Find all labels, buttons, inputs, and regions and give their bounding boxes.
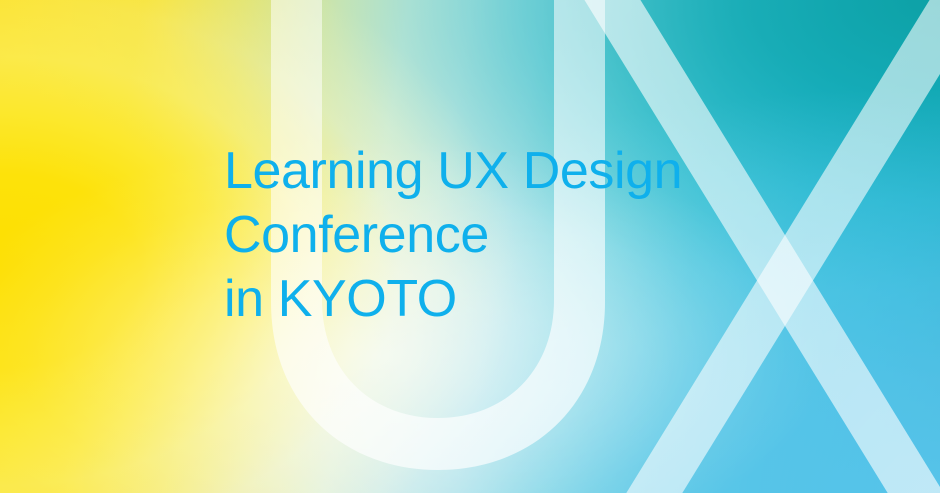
headline-line-2: Conference <box>224 209 682 261</box>
headline-line-3: in KYOTO <box>224 273 682 325</box>
conference-banner: Learning UX Design Conference in KYOTO <box>0 0 940 493</box>
headline-line-1: Learning UX Design <box>224 145 682 197</box>
headline: Learning UX Design Conference in KYOTO <box>224 145 682 325</box>
